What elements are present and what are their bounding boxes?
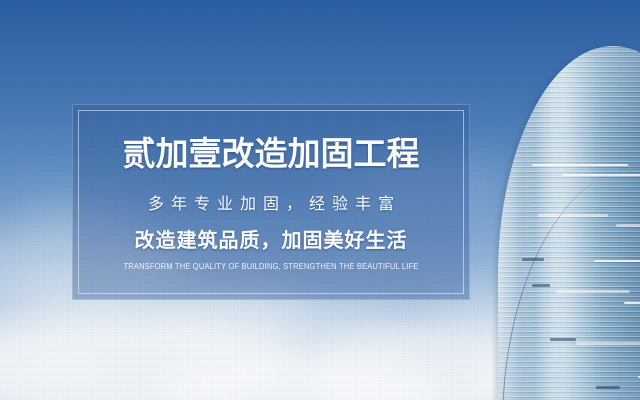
banner-image: 贰加壹改造加固工程 多年专业加固，经验丰富 改造建筑品质，加固美好生活 TRAN… (0, 0, 640, 400)
tower-highlight (532, 164, 628, 166)
tagline-english: TRANSFORM THE QUALITY OF BUILDING, STREN… (84, 261, 458, 273)
subtitle-secondary: 改造建筑品质，加固美好生活 (72, 228, 470, 254)
skyscraper (480, 0, 640, 400)
subtitle-primary: 多年专业加固，经验丰富 (72, 194, 470, 216)
page-title: 贰加壹改造加固工程 (72, 134, 470, 174)
text-panel: 贰加壹改造加固工程 多年专业加固，经验丰富 改造建筑品质，加固美好生活 TRAN… (72, 104, 470, 300)
tower-body (498, 46, 640, 400)
